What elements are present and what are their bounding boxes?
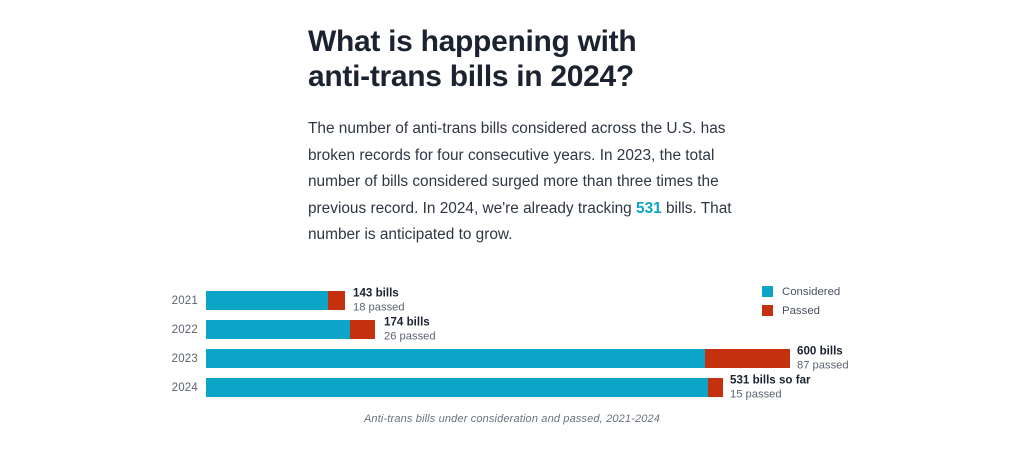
chart-plot-area: 2021 143 bills 18 passed 2022 174 bills … (0, 272, 1024, 408)
legend-label-passed: Passed (782, 305, 820, 317)
bar-passed-label-2021: 18 passed (353, 301, 405, 315)
bar-value-labels-2021: 143 bills 18 passed (353, 286, 405, 315)
page-title-line-2: anti-trans bills in 2024? (308, 59, 738, 94)
legend-item-considered[interactable]: Considered (762, 283, 912, 300)
legend-swatch-considered-icon (762, 286, 773, 297)
bar-passed-label-2023: 87 passed (797, 359, 849, 373)
legend-swatch-passed-icon (762, 305, 773, 316)
bar-value-labels-2023: 600 bills 87 passed (797, 344, 849, 373)
bar-segment-considered-2023 (206, 349, 705, 368)
bar-passed-label-2024: 15 passed (730, 388, 811, 402)
bar-passed-label-2022: 26 passed (384, 330, 436, 344)
bar-segment-passed-2021 (328, 291, 345, 310)
legend-item-passed[interactable]: Passed (762, 302, 912, 319)
table-row: 2022 174 bills 26 passed (0, 320, 1024, 339)
bar-total-label-2024: 531 bills so far (730, 373, 811, 388)
bar-value-labels-2022: 174 bills 26 passed (384, 315, 436, 344)
bar-total-label-2023: 600 bills (797, 344, 849, 359)
legend-label-considered: Considered (782, 286, 840, 298)
bar-year-label-2022: 2022 (168, 324, 198, 336)
bar-year-label-2023: 2023 (168, 353, 198, 365)
bar-segment-considered-2024 (206, 378, 708, 397)
chart-legend: Considered Passed (762, 283, 912, 321)
bar-total-label-2021: 143 bills (353, 286, 405, 301)
bar-segment-considered-2022 (206, 320, 350, 339)
bar-chart: 2021 143 bills 18 passed 2022 174 bills … (0, 272, 1024, 449)
bar-total-label-2022: 174 bills (384, 315, 436, 330)
page-title-line-1: What is happening with (308, 24, 738, 59)
bar-2021[interactable] (206, 291, 345, 310)
standfirst-highlight-number: 531 (636, 200, 662, 217)
bar-segment-passed-2023 (705, 349, 790, 368)
bar-value-labels-2024: 531 bills so far 15 passed (730, 373, 811, 402)
bar-year-label-2021: 2021 (168, 295, 198, 307)
page-title: What is happening with anti-trans bills … (308, 24, 738, 94)
bar-segment-considered-2021 (206, 291, 328, 310)
bar-year-label-2024: 2024 (168, 382, 198, 394)
chart-caption: Anti-trans bills under consideration and… (0, 413, 1024, 425)
bar-segment-passed-2024 (708, 378, 723, 397)
table-row: 2024 531 bills so far 15 passed (0, 378, 1024, 397)
bar-2022[interactable] (206, 320, 375, 339)
table-row: 2023 600 bills 87 passed (0, 349, 1024, 368)
headline-block: What is happening with anti-trans bills … (308, 24, 738, 249)
bar-2024[interactable] (206, 378, 723, 397)
bar-2023[interactable] (206, 349, 790, 368)
bar-segment-passed-2022 (350, 320, 375, 339)
standfirst-paragraph: The number of anti-trans bills considere… (308, 94, 733, 248)
